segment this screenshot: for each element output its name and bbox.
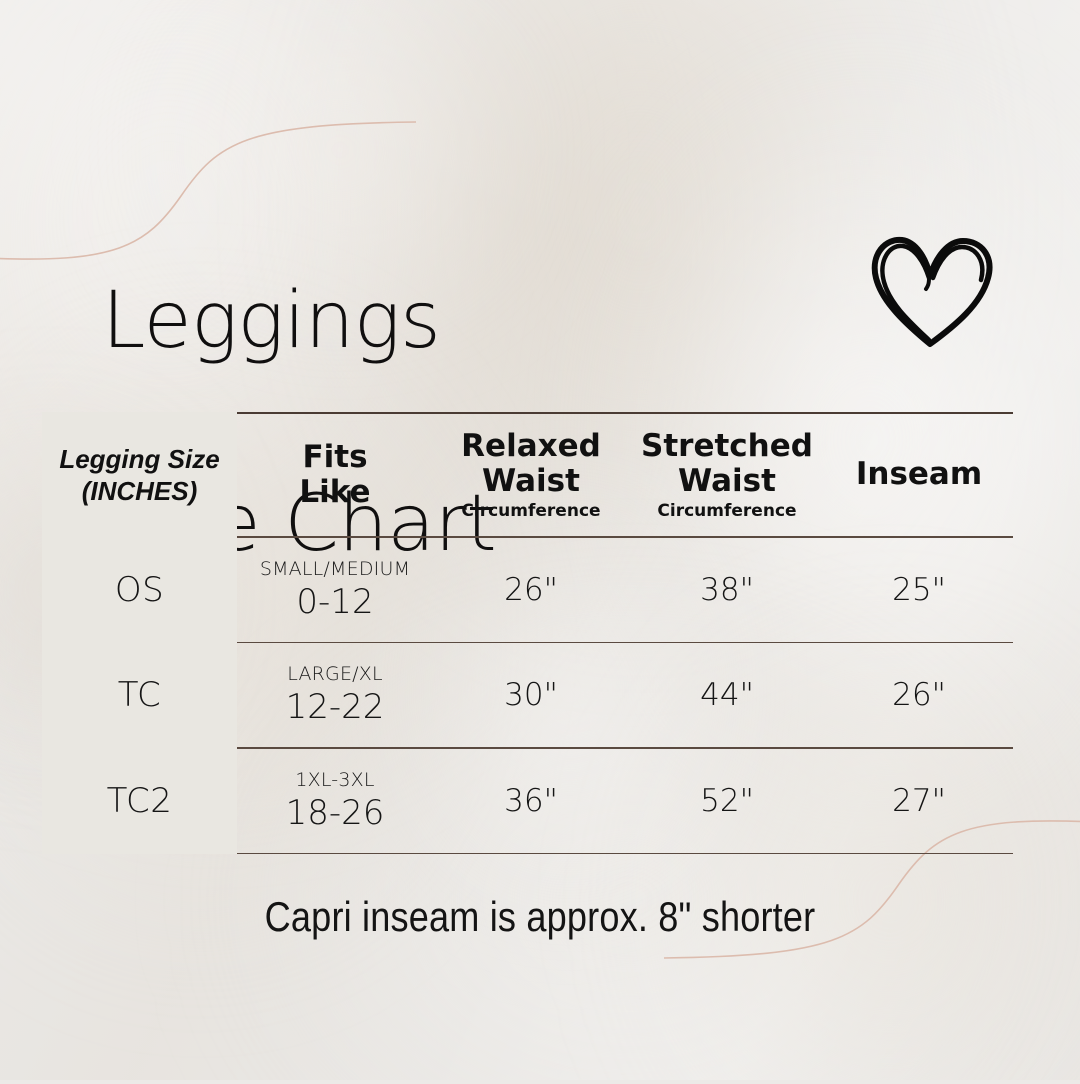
cell-value: 0-12 <box>296 582 373 622</box>
table-row: TC LARGE/XL 12-22 30" 44" 26" <box>42 643 1013 747</box>
column-header-relaxed-waist: Relaxed Waist Circumference <box>433 414 629 536</box>
cell-fits-like: LARGE/XL 12-22 <box>237 643 433 747</box>
column-header-stretched-waist: Stretched Waist Circumference <box>629 414 825 536</box>
cell-relaxed-waist: 36" <box>433 749 629 853</box>
column-header-label: Legging Size (INCHES) <box>59 443 219 508</box>
table-header-row: Legging Size (INCHES) Fits Like Relaxed … <box>42 414 1013 536</box>
cell-sublabel: SMALL/MEDIUM <box>260 558 410 580</box>
cell-inseam: 26" <box>825 643 1013 747</box>
cell-inseam: 27" <box>825 749 1013 853</box>
column-header-legging-size: Legging Size (INCHES) <box>42 414 237 536</box>
table-row: OS SMALL/MEDIUM 0-12 26" 38" 25" <box>42 538 1013 642</box>
cell-inseam: 25" <box>825 538 1013 642</box>
column-header-label: Relaxed Waist <box>461 429 601 500</box>
cell-value: 52" <box>700 783 754 819</box>
heart-icon <box>866 228 998 356</box>
column-header-label: Inseam <box>856 457 982 492</box>
cell-value: OS <box>115 570 164 610</box>
cell-sublabel: LARGE/XL <box>287 663 383 685</box>
page-title-line-1: Leggings <box>102 271 496 372</box>
table-row: TC2 1XL-3XL 18-26 36" 52" 27" <box>42 749 1013 853</box>
cell-relaxed-waist: 30" <box>433 643 629 747</box>
column-header-sublabel: Circumference <box>461 501 600 521</box>
cell-value: 36" <box>504 783 558 819</box>
cell-value: 12-22 <box>286 687 385 727</box>
cell-sublabel: 1XL-3XL <box>295 769 374 791</box>
cell-value: TC2 <box>107 781 173 821</box>
cell-size: OS <box>42 538 237 642</box>
cell-value: 26" <box>504 572 558 608</box>
cell-fits-like: 1XL-3XL 18-26 <box>237 749 433 853</box>
cell-value: TC <box>118 675 162 715</box>
cell-value: 30" <box>504 677 558 713</box>
column-header-inseam: Inseam <box>825 414 1013 536</box>
cell-value: 25" <box>892 572 946 608</box>
column-header-label: Fits Like <box>299 440 370 511</box>
cell-size: TC2 <box>42 749 237 853</box>
cell-value: 38" <box>700 572 754 608</box>
cell-fits-like: SMALL/MEDIUM 0-12 <box>237 538 433 642</box>
footer-note: Capri inseam is approx. 8" shorter <box>76 893 1005 941</box>
cell-stretched-waist: 44" <box>629 643 825 747</box>
column-header-fits-like: Fits Like <box>237 414 433 536</box>
cell-stretched-waist: 52" <box>629 749 825 853</box>
cell-value: 27" <box>892 783 946 819</box>
column-header-label: Stretched Waist <box>641 429 813 500</box>
cell-size: TC <box>42 643 237 747</box>
column-header-sublabel: Circumference <box>657 501 796 521</box>
cell-value: 18-26 <box>286 793 385 833</box>
cell-relaxed-waist: 26" <box>433 538 629 642</box>
cell-value: 44" <box>700 677 754 713</box>
cell-value: 26" <box>892 677 946 713</box>
size-chart-table: Legging Size (INCHES) Fits Like Relaxed … <box>42 412 1013 854</box>
cell-stretched-waist: 38" <box>629 538 825 642</box>
